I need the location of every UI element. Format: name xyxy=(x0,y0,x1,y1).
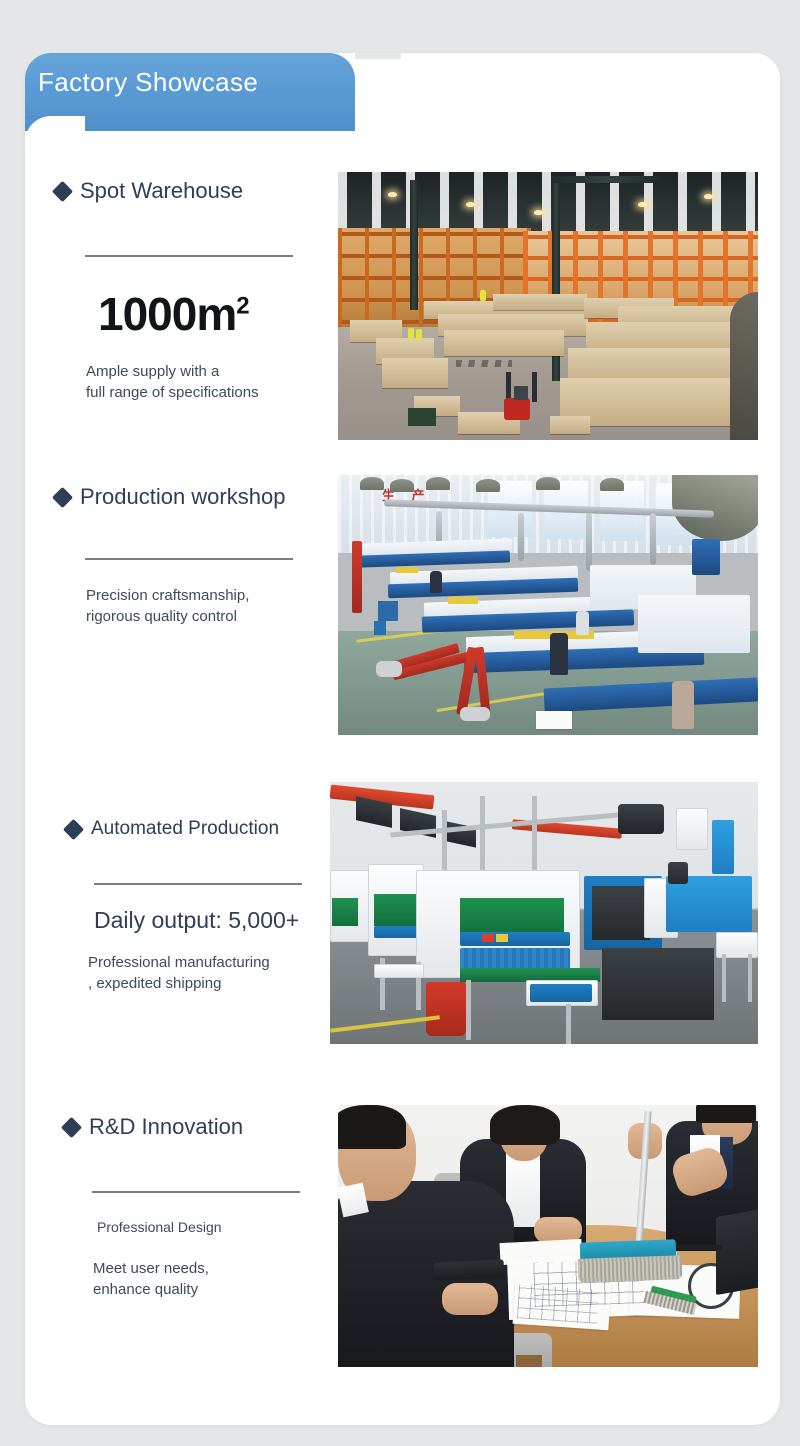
red-rod-bundle xyxy=(352,541,362,613)
warehouse-column xyxy=(410,180,418,310)
diamond-bullet-icon xyxy=(61,1116,82,1137)
bench-leg xyxy=(748,954,752,1002)
section-1-stat-superscript: 2 xyxy=(236,293,248,320)
pendant-lamp-icon xyxy=(476,479,500,492)
machine-accent xyxy=(448,597,478,604)
pendant-lamp-icon xyxy=(426,477,450,490)
forklift-cab xyxy=(514,386,528,400)
blueprint-linework xyxy=(517,1284,599,1323)
section-3-description: Professional manufacturing , expedited s… xyxy=(88,952,328,995)
machine-frame xyxy=(480,796,485,880)
red-waste-bin xyxy=(426,982,466,1036)
section-1-divider xyxy=(85,255,293,257)
spot-warehouse-photo xyxy=(338,172,758,440)
broom-bristles xyxy=(578,1255,683,1283)
section-3-title: Automated Production xyxy=(91,818,279,840)
duct-drop xyxy=(518,513,524,561)
machine-green-panel xyxy=(460,898,564,936)
machine-panel xyxy=(712,820,734,874)
machine-green-panel xyxy=(374,894,418,926)
waste-bin xyxy=(408,408,436,426)
worker-hi-vis xyxy=(408,328,414,339)
worker xyxy=(430,571,442,593)
section-automated-production: Automated Production Daily output: 5,000… xyxy=(66,818,328,995)
paperwork xyxy=(536,711,572,729)
section-4-heading: R&D Innovation xyxy=(64,1114,326,1140)
section-2-divider xyxy=(85,558,293,560)
duct-drop xyxy=(650,513,656,565)
card-top-left-notch xyxy=(25,116,85,156)
section-1-description: Ample supply with a full range of specif… xyxy=(86,361,305,404)
injection-unit xyxy=(666,876,752,932)
section-4-divider xyxy=(92,1191,300,1193)
worker xyxy=(672,681,694,729)
ceiling-lamp-icon xyxy=(388,192,397,197)
ceiling-lamp-icon xyxy=(466,202,475,207)
pendant-lamp-icon xyxy=(390,479,414,492)
worker-hi-vis xyxy=(416,329,422,340)
smartphone xyxy=(434,1259,505,1281)
pendant-lamp-icon xyxy=(360,477,384,490)
pendant-lamp-icon xyxy=(600,478,624,491)
bench-leg xyxy=(566,1004,571,1044)
section-production-workshop: Production workshop Precision craftsmans… xyxy=(55,484,315,628)
section-3-heading: Automated Production xyxy=(66,818,328,840)
floor-crosswalk-marking xyxy=(456,360,512,367)
machine-blue-shelf xyxy=(460,932,570,946)
indicator-yellow xyxy=(496,934,508,942)
indicator-red xyxy=(482,934,494,942)
machine-accent xyxy=(396,567,418,573)
section-1-title: Spot Warehouse xyxy=(80,178,243,204)
diamond-bullet-icon xyxy=(63,818,84,839)
person-center-hair xyxy=(490,1105,560,1145)
machine-base xyxy=(602,948,714,1020)
machine-blue-shelf xyxy=(374,926,420,938)
factory-showcase-page: Factory Showcase Spot Warehouse 1000m2 A… xyxy=(0,0,800,1446)
hopper-icon xyxy=(668,862,688,884)
machine-cabinet xyxy=(638,595,750,653)
workbench-drawer-front xyxy=(530,984,592,1002)
bench-leg xyxy=(466,980,471,1040)
material-bin xyxy=(378,601,398,621)
pallet-stack xyxy=(493,294,587,310)
section-4-stat: Professional Design xyxy=(97,1218,326,1238)
forklift-icon xyxy=(504,398,530,420)
machine-green-panel xyxy=(332,898,358,926)
section-1-heading: Spot Warehouse xyxy=(55,178,305,204)
foreground-object xyxy=(730,292,758,440)
diamond-bullet-icon xyxy=(52,180,73,201)
ceiling-lamp-icon xyxy=(534,210,543,215)
bench-leg xyxy=(722,954,726,1002)
section-rd-innovation: R&D Innovation Professional Design Meet … xyxy=(64,1114,326,1300)
machine-cabinet xyxy=(692,539,720,575)
machine-window xyxy=(592,886,650,940)
section-1-stat: 1000m2 xyxy=(98,287,305,341)
section-3-divider xyxy=(94,883,302,885)
side-table xyxy=(374,964,424,978)
duct-drop xyxy=(586,513,592,571)
section-4-title: R&D Innovation xyxy=(89,1114,243,1140)
automated-production-photo xyxy=(330,782,758,1044)
worker-hi-vis xyxy=(480,290,486,301)
pallet-stack xyxy=(382,358,448,388)
ceiling-lamp-icon xyxy=(704,194,713,199)
material-bin xyxy=(374,621,386,635)
page-title: Factory Showcase xyxy=(38,67,258,98)
section-3-stat: Daily output: 5,000+ xyxy=(94,907,328,934)
section-2-heading: Production workshop xyxy=(55,484,315,510)
person-left-hand xyxy=(442,1283,498,1315)
section-4-description: Meet user needs, enhance quality xyxy=(93,1258,326,1301)
diamond-bullet-icon xyxy=(52,486,73,507)
production-workshop-photo: 生 产 xyxy=(338,475,758,735)
table-leg xyxy=(516,1355,542,1367)
person-left-hair xyxy=(338,1105,406,1149)
header-tab-curve xyxy=(355,53,401,131)
section-1-stat-value: 1000m xyxy=(98,288,236,340)
mop-head xyxy=(460,707,490,721)
worker xyxy=(550,633,568,675)
worker xyxy=(576,611,589,635)
mop-head xyxy=(376,661,402,677)
pallet-stack xyxy=(550,416,590,434)
control-panel xyxy=(676,808,708,850)
pen xyxy=(678,1245,722,1250)
forklift-mast xyxy=(532,372,537,402)
pallet-stack xyxy=(444,330,564,356)
pendant-lamp-icon xyxy=(536,477,560,490)
robot-arm xyxy=(618,804,664,834)
warehouse-beam xyxy=(551,176,661,183)
person-right-hair xyxy=(696,1105,756,1123)
section-spot-warehouse: Spot Warehouse 1000m2 Ample supply with … xyxy=(55,178,305,404)
ceiling-lamp-icon xyxy=(638,202,647,207)
laptop xyxy=(716,1209,758,1295)
section-2-description: Precision craftsmanship, rigorous qualit… xyxy=(86,585,315,628)
rd-innovation-photo xyxy=(338,1105,758,1367)
section-2-title: Production workshop xyxy=(80,484,285,510)
machine-frame xyxy=(532,796,537,870)
